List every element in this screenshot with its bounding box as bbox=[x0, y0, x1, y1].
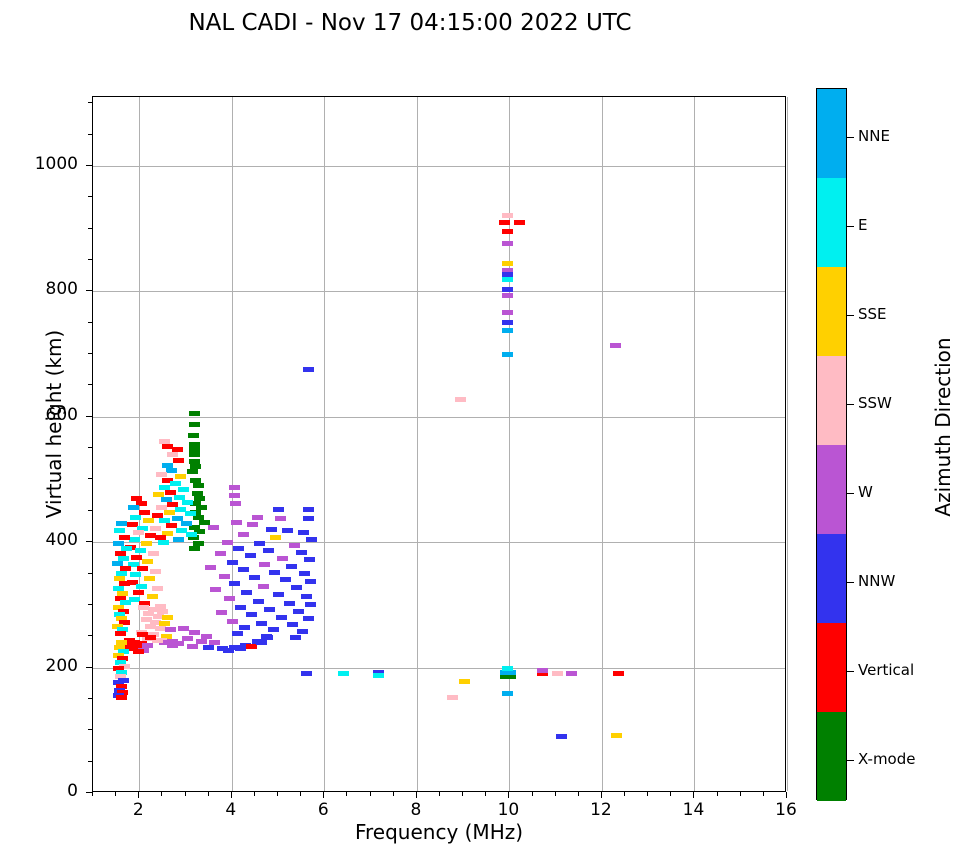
echo-point bbox=[137, 632, 148, 637]
y-tick-minor bbox=[88, 196, 92, 197]
echo-point bbox=[150, 526, 161, 531]
echo-point bbox=[303, 367, 314, 372]
echo-point bbox=[233, 546, 244, 551]
colorbar-tick bbox=[847, 315, 854, 316]
echo-point bbox=[287, 622, 298, 627]
echo-point bbox=[284, 601, 295, 606]
y-tick-label: 400 bbox=[0, 530, 78, 550]
colorbar-segment-ssw bbox=[817, 356, 846, 445]
x-tick-minor bbox=[763, 792, 764, 796]
x-tick-minor bbox=[670, 792, 671, 796]
y-tick-minor bbox=[88, 228, 92, 229]
echo-point bbox=[227, 619, 238, 624]
echo-point bbox=[189, 422, 200, 427]
echo-point bbox=[270, 535, 281, 540]
echo-point bbox=[135, 548, 146, 553]
echo-point bbox=[182, 500, 193, 505]
echo-point bbox=[141, 541, 152, 546]
echo-point bbox=[305, 602, 316, 607]
y-tick-minor bbox=[88, 384, 92, 385]
echo-point bbox=[148, 551, 159, 556]
echo-point bbox=[219, 574, 230, 579]
echo-point bbox=[263, 548, 274, 553]
x-tick-minor bbox=[393, 792, 394, 796]
echo-point bbox=[286, 564, 297, 569]
echo-point bbox=[223, 648, 234, 653]
x-tick-minor bbox=[532, 792, 533, 796]
echo-point bbox=[502, 328, 513, 333]
echo-point bbox=[502, 229, 513, 234]
x-tick bbox=[323, 792, 324, 798]
echo-point bbox=[552, 671, 563, 676]
y-tick-label: 600 bbox=[0, 405, 78, 425]
x-tick-minor bbox=[717, 792, 718, 796]
echo-point bbox=[165, 627, 176, 632]
x-tick bbox=[231, 792, 232, 798]
echo-point bbox=[338, 671, 349, 676]
echo-point bbox=[116, 695, 127, 700]
echo-point bbox=[230, 501, 241, 506]
echo-point bbox=[502, 213, 513, 218]
colorbar-tick bbox=[847, 671, 854, 672]
echo-point bbox=[306, 537, 317, 542]
echo-point bbox=[502, 352, 513, 357]
echo-point bbox=[215, 551, 226, 556]
colorbar-segment-nne bbox=[817, 89, 846, 178]
colorbar-tick bbox=[847, 404, 854, 405]
echo-point bbox=[273, 507, 284, 512]
echo-point bbox=[175, 474, 186, 479]
x-tick bbox=[601, 792, 602, 798]
x-tick-minor bbox=[161, 792, 162, 796]
echo-point bbox=[131, 555, 142, 560]
echo-point bbox=[147, 594, 158, 599]
echo-point bbox=[252, 515, 263, 520]
colorbar-tick bbox=[847, 226, 854, 227]
echo-point bbox=[293, 609, 304, 614]
y-tick-minor bbox=[88, 447, 92, 448]
echo-point bbox=[210, 587, 221, 592]
echo-point bbox=[238, 532, 249, 537]
echo-point bbox=[241, 590, 252, 595]
x-tick-label: 8 bbox=[386, 800, 446, 820]
x-tick-minor bbox=[624, 792, 625, 796]
x-tick-label: 6 bbox=[293, 800, 353, 820]
echo-point bbox=[158, 540, 169, 545]
x-tick-minor bbox=[92, 792, 93, 796]
echo-point bbox=[537, 668, 548, 673]
echo-point bbox=[173, 537, 184, 542]
echo-point bbox=[231, 520, 242, 525]
y-tick bbox=[86, 792, 92, 793]
echo-point bbox=[247, 522, 258, 527]
colorbar-label-nne: NNE bbox=[858, 127, 890, 145]
x-tick-minor bbox=[485, 792, 486, 796]
x-tick-minor bbox=[370, 792, 371, 796]
x-tick-label: 2 bbox=[108, 800, 168, 820]
x-tick bbox=[786, 792, 787, 798]
x-tick-minor bbox=[300, 792, 301, 796]
x-tick-minor bbox=[439, 792, 440, 796]
echo-point bbox=[297, 629, 308, 634]
echo-point bbox=[128, 505, 139, 510]
echo-point bbox=[455, 397, 466, 402]
echo-point bbox=[114, 528, 125, 533]
echo-point bbox=[229, 485, 240, 490]
colorbar-label-x-mode: X-mode bbox=[858, 750, 915, 768]
colorbar-label-nnw: NNW bbox=[858, 572, 895, 590]
y-tick bbox=[86, 290, 92, 291]
colorbar-tick bbox=[847, 493, 854, 494]
y-tick-minor bbox=[88, 102, 92, 103]
echo-point bbox=[127, 522, 138, 527]
echo-point bbox=[298, 530, 309, 535]
x-tick-minor bbox=[254, 792, 255, 796]
colorbar-label-e: E bbox=[858, 216, 867, 234]
echo-point bbox=[246, 644, 257, 649]
colorbar-label-ssw: SSW bbox=[858, 394, 892, 412]
echo-point bbox=[173, 458, 184, 463]
echo-point bbox=[188, 433, 199, 438]
colorbar-tick bbox=[847, 760, 854, 761]
echo-point bbox=[205, 565, 216, 570]
echo-point bbox=[152, 586, 163, 591]
x-tick-minor bbox=[740, 792, 741, 796]
y-tick bbox=[86, 165, 92, 166]
echo-point bbox=[282, 528, 293, 533]
y-tick bbox=[86, 541, 92, 542]
x-tick bbox=[416, 792, 417, 798]
echo-point bbox=[502, 277, 513, 282]
echo-point bbox=[264, 607, 275, 612]
x-tick-label: 4 bbox=[201, 800, 261, 820]
echo-point bbox=[259, 562, 270, 567]
echo-point bbox=[136, 584, 147, 589]
echo-point bbox=[143, 518, 154, 523]
x-tick-minor bbox=[555, 792, 556, 796]
x-tick-minor bbox=[462, 792, 463, 796]
colorbar-tick bbox=[847, 137, 854, 138]
echo-point bbox=[181, 521, 192, 526]
echo-point bbox=[459, 679, 470, 684]
y-tick-label: 200 bbox=[0, 656, 78, 676]
echo-point bbox=[235, 646, 246, 651]
echo-point bbox=[137, 566, 148, 571]
echo-point bbox=[229, 581, 240, 586]
echo-point bbox=[145, 533, 156, 538]
echo-point bbox=[187, 469, 198, 474]
colorbar-segment-vertical bbox=[817, 623, 846, 712]
colorbar-label-w: W bbox=[858, 483, 873, 501]
echo-point bbox=[502, 287, 513, 292]
echo-point bbox=[229, 493, 240, 498]
echo-point bbox=[291, 585, 302, 590]
echo-point bbox=[238, 567, 249, 572]
echo-point bbox=[499, 220, 510, 225]
x-tick bbox=[508, 792, 509, 798]
echo-point bbox=[273, 592, 284, 597]
x-tick-minor bbox=[346, 792, 347, 796]
echo-point bbox=[156, 472, 167, 477]
y-tick-minor bbox=[88, 761, 92, 762]
echo-point bbox=[130, 572, 141, 577]
y-tick-minor bbox=[88, 604, 92, 605]
y-tick-label: 0 bbox=[0, 781, 78, 801]
y-tick-minor bbox=[88, 573, 92, 574]
y-tick-minor bbox=[88, 322, 92, 323]
y-tick-label: 1000 bbox=[0, 154, 78, 174]
echo-point bbox=[203, 645, 214, 650]
echo-point bbox=[277, 556, 288, 561]
x-tick-minor bbox=[277, 792, 278, 796]
echo-point bbox=[133, 590, 144, 595]
y-tick-minor bbox=[88, 353, 92, 354]
echo-point bbox=[256, 640, 267, 645]
x-tick bbox=[693, 792, 694, 798]
echo-point bbox=[276, 615, 287, 620]
y-axis-label: Virtual height (km) bbox=[42, 254, 66, 594]
x-tick-minor bbox=[115, 792, 116, 796]
x-axis-label: Frequency (MHz) bbox=[92, 820, 786, 844]
echo-point bbox=[246, 612, 257, 617]
page-title: NAL CADI - Nov 17 04:15:00 2022 UTC bbox=[0, 10, 820, 36]
echo-point bbox=[162, 615, 173, 620]
echo-point bbox=[249, 575, 260, 580]
echo-point bbox=[502, 666, 513, 671]
x-tick-label: 16 bbox=[756, 800, 816, 820]
echo-point bbox=[303, 616, 314, 621]
echo-point bbox=[502, 691, 513, 696]
colorbar-label-sse: SSE bbox=[858, 305, 887, 323]
echo-point bbox=[133, 530, 144, 535]
scatter-points bbox=[93, 97, 785, 791]
y-tick-minor bbox=[88, 635, 92, 636]
y-tick-minor bbox=[88, 259, 92, 260]
echo-point bbox=[502, 320, 513, 325]
echo-point bbox=[447, 695, 458, 700]
echo-point bbox=[170, 481, 181, 486]
echo-point bbox=[239, 625, 250, 630]
x-tick-label: 14 bbox=[663, 800, 723, 820]
echo-point bbox=[289, 543, 300, 548]
gridline-vertical bbox=[787, 97, 788, 791]
colorbar-segment-x-mode bbox=[817, 712, 846, 801]
echo-point bbox=[185, 511, 196, 516]
y-tick-minor bbox=[88, 478, 92, 479]
echo-point bbox=[290, 635, 301, 640]
echo-point bbox=[189, 411, 200, 416]
x-tick-minor bbox=[208, 792, 209, 796]
echo-point bbox=[178, 487, 189, 492]
echo-point bbox=[155, 626, 166, 631]
echo-point bbox=[301, 594, 312, 599]
echo-point bbox=[253, 599, 264, 604]
azimuth-colorbar bbox=[816, 88, 847, 800]
echo-point bbox=[268, 627, 279, 632]
echo-point bbox=[222, 540, 233, 545]
colorbar-segment-w bbox=[817, 445, 846, 534]
echo-point bbox=[502, 241, 513, 246]
echo-point bbox=[556, 734, 567, 739]
y-tick-minor bbox=[88, 510, 92, 511]
echo-point bbox=[502, 310, 513, 315]
x-tick-label: 10 bbox=[478, 800, 538, 820]
x-tick bbox=[138, 792, 139, 798]
echo-point bbox=[254, 541, 265, 546]
echo-point bbox=[269, 570, 280, 575]
colorbar-segment-nnw bbox=[817, 534, 846, 623]
y-tick-minor bbox=[88, 134, 92, 135]
echo-point bbox=[115, 631, 126, 636]
echo-point bbox=[189, 452, 200, 457]
echo-point bbox=[142, 559, 153, 564]
echo-point bbox=[227, 560, 238, 565]
echo-point bbox=[193, 483, 204, 488]
echo-point bbox=[566, 671, 577, 676]
echo-point bbox=[166, 468, 177, 473]
x-tick-minor bbox=[185, 792, 186, 796]
echo-point bbox=[189, 546, 200, 551]
echo-point bbox=[189, 630, 200, 635]
echo-point bbox=[299, 571, 310, 576]
x-tick-minor bbox=[647, 792, 648, 796]
ionogram-plot bbox=[92, 96, 786, 792]
y-tick bbox=[86, 416, 92, 417]
echo-point bbox=[303, 507, 314, 512]
echo-point bbox=[186, 532, 197, 537]
y-tick-label: 800 bbox=[0, 279, 78, 299]
echo-point bbox=[301, 671, 312, 676]
colorbar-tick bbox=[847, 582, 854, 583]
echo-point bbox=[613, 671, 624, 676]
x-tick-label: 12 bbox=[571, 800, 631, 820]
echo-point bbox=[130, 515, 141, 520]
echo-point bbox=[502, 293, 513, 298]
echo-point bbox=[167, 452, 178, 457]
echo-point bbox=[235, 605, 246, 610]
colorbar-segment-e bbox=[817, 178, 846, 267]
y-tick-minor bbox=[88, 729, 92, 730]
echo-point bbox=[224, 596, 235, 601]
echo-point bbox=[119, 535, 130, 540]
echo-point bbox=[502, 261, 513, 266]
echo-point bbox=[187, 644, 198, 649]
colorbar-segment-sse bbox=[817, 267, 846, 356]
echo-point bbox=[150, 569, 161, 574]
y-tick-minor bbox=[88, 698, 92, 699]
echo-point bbox=[280, 577, 291, 582]
echo-point bbox=[178, 626, 189, 631]
echo-point bbox=[611, 733, 622, 738]
echo-point bbox=[275, 516, 286, 521]
echo-point bbox=[216, 610, 227, 615]
echo-point bbox=[514, 220, 525, 225]
echo-point bbox=[144, 576, 155, 581]
echo-point bbox=[129, 537, 140, 542]
colorbar-title: Azimuth Direction bbox=[931, 267, 955, 587]
echo-point bbox=[610, 343, 621, 348]
echo-point bbox=[266, 527, 277, 532]
echo-point bbox=[245, 553, 256, 558]
echo-point bbox=[208, 525, 219, 530]
echo-point bbox=[133, 649, 144, 654]
echo-point bbox=[304, 557, 315, 562]
echo-point bbox=[373, 673, 384, 678]
echo-point bbox=[305, 579, 316, 584]
echo-point bbox=[258, 584, 269, 589]
echo-point bbox=[232, 631, 243, 636]
echo-point bbox=[256, 621, 267, 626]
echo-point bbox=[303, 516, 314, 521]
colorbar-label-vertical: Vertical bbox=[858, 661, 914, 679]
echo-point bbox=[116, 521, 127, 526]
y-tick bbox=[86, 667, 92, 668]
echo-point bbox=[296, 550, 307, 555]
echo-point bbox=[164, 510, 175, 515]
x-tick-minor bbox=[578, 792, 579, 796]
